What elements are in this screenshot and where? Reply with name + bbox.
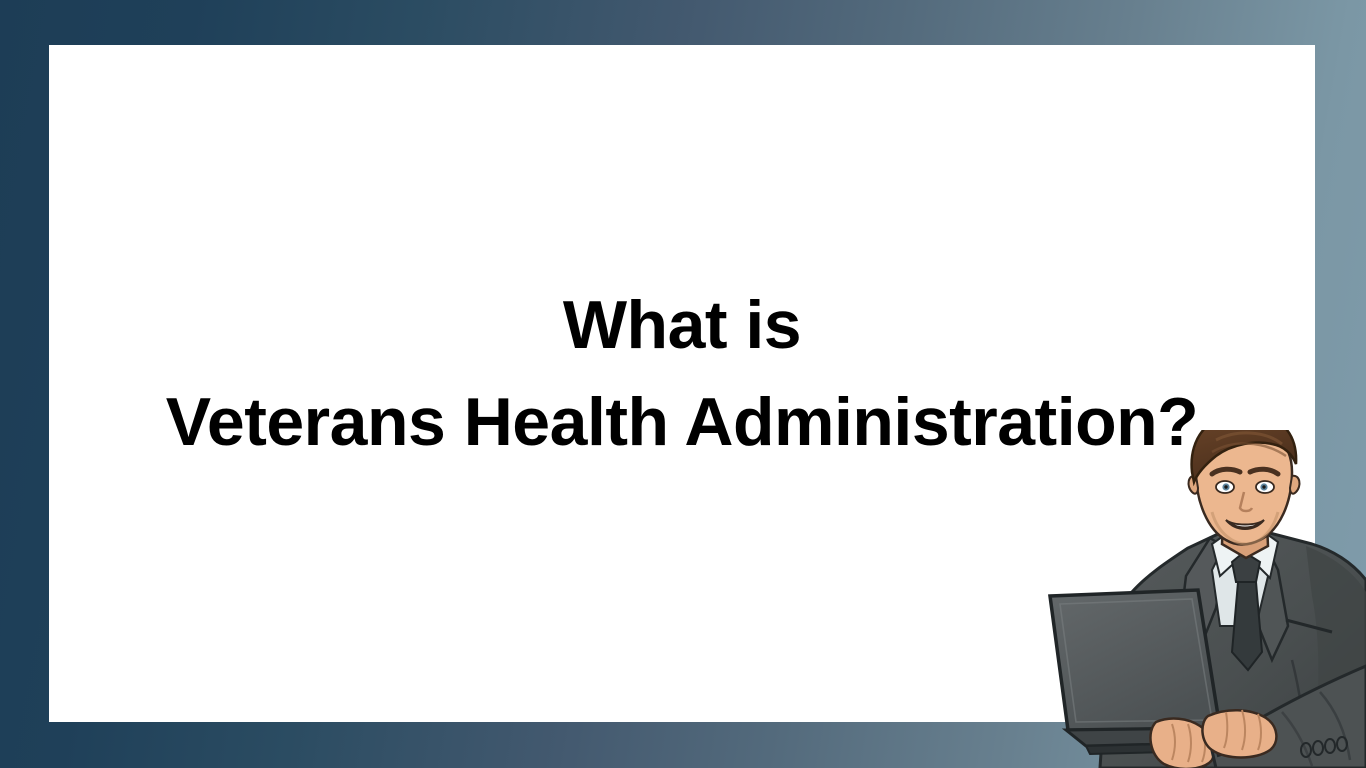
page-title-line-1: What is [49, 288, 1315, 362]
slide-canvas: What is Veterans Health Administration? [0, 0, 1366, 768]
typing-hand [1202, 710, 1276, 758]
businessman-illustration [1020, 430, 1366, 768]
